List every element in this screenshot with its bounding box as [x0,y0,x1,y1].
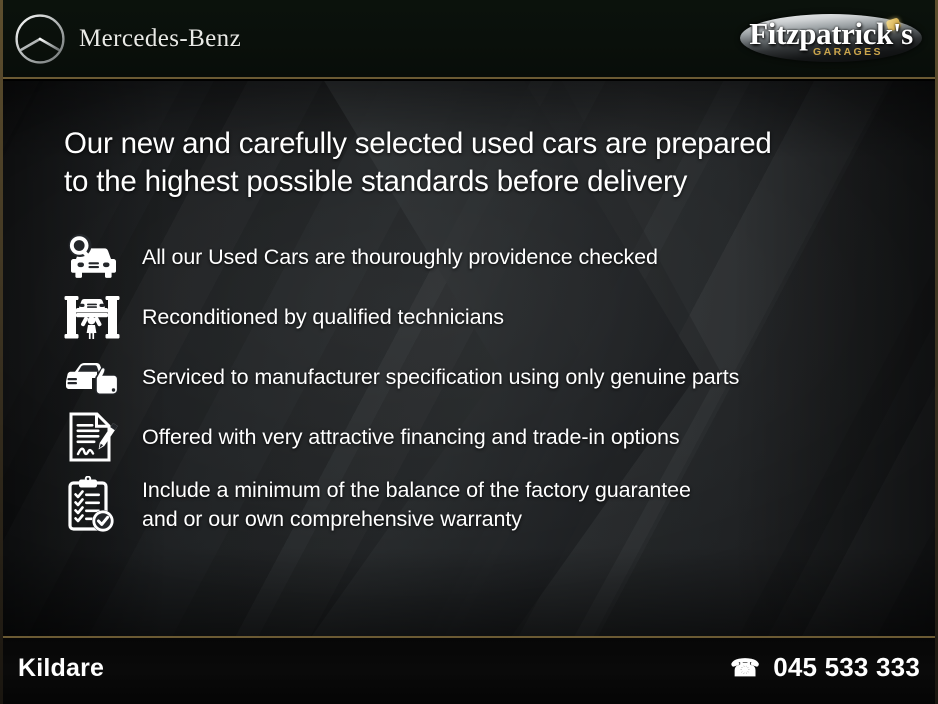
headline-line-2: to the highest possible standards before… [64,163,884,201]
list-item-label: All our Used Cars are thouroughly provid… [132,243,658,272]
list-item-label: Reconditioned by qualified technicians [132,303,504,332]
list-item-label: Include a minimum of the balance of the … [132,476,691,534]
footer-phone-block: ☎ 045 533 333 [730,652,920,683]
headline-line-1: Our new and carefully selected used cars… [64,125,884,163]
list-item: All our Used Cars are thouroughly provid… [60,229,910,285]
footer-bar: Kildare ☎ 045 533 333 [0,636,938,704]
left-edge-accent [0,0,3,704]
list-item-label: Offered with very attractive financing a… [132,423,679,452]
mercedes-benz-logo: Mercedes-Benz [14,13,241,65]
header-bar: Mercedes-Benz Fitzpatrick's GARAGES [0,0,938,79]
list-item: Offered with very attractive financing a… [60,409,910,465]
list-item: Serviced to manufacturer specification u… [60,349,910,405]
telephone-icon: ☎ [730,657,760,681]
document-pen-signature-icon [60,409,132,465]
list-item-label-line-1: Serviced to manufacturer specification u… [142,363,739,392]
list-item-label-line-1: Offered with very attractive financing a… [142,423,679,452]
fitzpatricks-logo: Fitzpatrick's GARAGES [736,6,926,72]
footer-location: Kildare [18,654,104,683]
car-magnifier-icon [60,229,132,285]
list-item-label: Serviced to manufacturer specification u… [132,363,739,392]
list-item-label-line-1: Reconditioned by qualified technicians [142,303,504,332]
list-item: Reconditioned by qualified technicians [60,289,910,345]
mercedes-star-icon [14,13,66,65]
list-item: Include a minimum of the balance of the … [60,469,910,541]
car-thumbs-up-icon [60,349,132,405]
fitzpatricks-subtitle: GARAGES [736,46,926,58]
clipboard-checklist-icon [60,477,132,533]
mercedes-benz-wordmark: Mercedes-Benz [79,25,241,53]
main-content-area: Our new and carefully selected used cars… [0,81,938,636]
car-on-lift-icon [60,289,132,345]
headline: Our new and carefully selected used cars… [64,125,884,201]
list-item-label-line-2: and or our own comprehensive warranty [142,505,691,534]
advert-panel: Mercedes-Benz Fitzpatrick's GARAGES [0,0,938,704]
list-item-label-line-1: Include a minimum of the balance of the … [142,476,691,505]
footer-phone-number: 045 533 333 [773,652,920,683]
list-item-label-line-1: All our Used Cars are thouroughly provid… [142,243,658,272]
feature-list: All our Used Cars are thouroughly provid… [60,229,910,545]
